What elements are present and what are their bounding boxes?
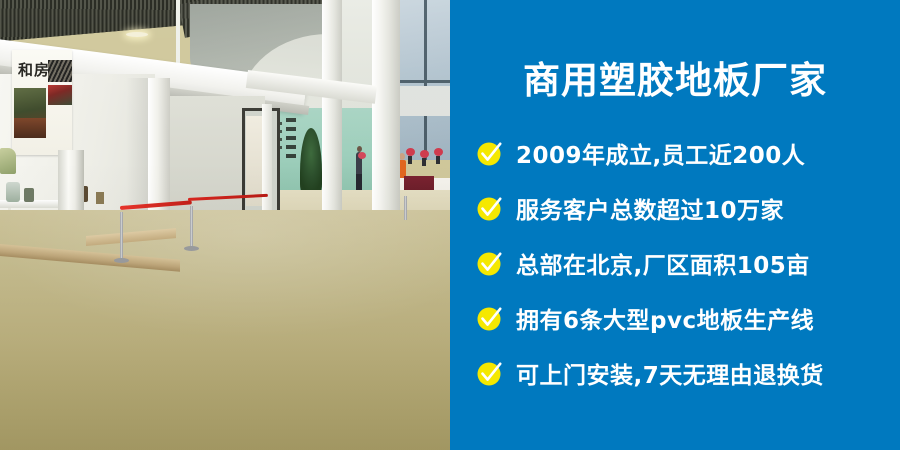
poster-image <box>14 118 46 138</box>
feature-label: 拥有6条大型pvc地板生产线 <box>516 301 814 335</box>
feature-item: 拥有6条大型pvc地板生产线 <box>450 290 900 345</box>
structural-column <box>372 0 400 212</box>
display-object <box>0 148 16 174</box>
feature-label: 总部在北京,厂区面积105亩 <box>516 246 810 280</box>
barrier-post-base <box>114 258 129 263</box>
panel-title: 商用塑胶地板厂家 <box>450 62 900 99</box>
feature-item: 服务客户总数超过10万家 <box>450 180 900 235</box>
vase <box>436 156 440 164</box>
flower-arrangement <box>406 148 415 156</box>
wall-panel <box>398 86 450 116</box>
flower-arrangement <box>358 152 366 159</box>
feature-label: 2009年成立,员工近200人 <box>516 136 805 170</box>
check-circle-icon <box>476 359 504 387</box>
structural-column <box>322 0 342 212</box>
feature-item: 总部在北京,厂区面积105亩 <box>450 235 900 290</box>
display-object <box>6 182 20 202</box>
vase <box>422 158 426 166</box>
feature-item: 可上门安装,7天无理由退换货 <box>450 345 900 400</box>
poster-calligraphy: 和房 <box>18 58 48 82</box>
check-circle-icon <box>476 249 504 277</box>
flower-arrangement <box>420 150 429 158</box>
barrier-post-base <box>184 246 199 251</box>
poster-image <box>48 60 72 82</box>
poster-image <box>48 85 72 105</box>
flower-arrangement <box>434 148 443 156</box>
vase <box>408 156 412 164</box>
window-mullion-horizontal <box>400 80 450 83</box>
showroom-photo: 和房 <box>0 0 450 450</box>
check-circle-icon <box>476 139 504 167</box>
feature-label: 服务客户总数超过10万家 <box>516 191 784 225</box>
display-object <box>96 192 104 204</box>
feature-list: 2009年成立,员工近200人 服务客户总数超过10万家 <box>450 125 900 400</box>
display-object <box>24 188 34 202</box>
barrier-post <box>190 206 193 250</box>
promo-banner: 和房 商用塑胶地板厂家 <box>0 0 900 450</box>
check-circle-icon <box>476 194 504 222</box>
check-circle-icon <box>476 304 504 332</box>
ceiling-light <box>126 32 148 37</box>
floor-sheen <box>0 210 450 450</box>
feature-label: 可上门安装,7天无理由退换货 <box>516 356 824 390</box>
wall-calligraphy <box>286 118 296 160</box>
barrier-post <box>404 196 407 220</box>
barrier-post <box>120 212 123 262</box>
feature-item: 2009年成立,员工近200人 <box>450 125 900 180</box>
feature-panel: 商用塑胶地板厂家 2009年成立,员工近200人 <box>450 0 900 450</box>
